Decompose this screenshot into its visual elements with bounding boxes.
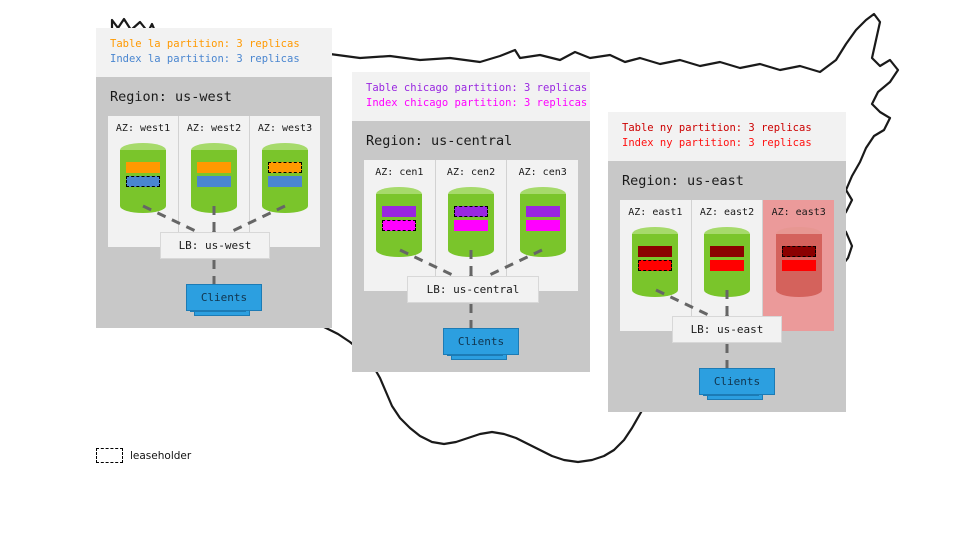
clients-box-us-west[interactable]: Clients: [186, 284, 262, 311]
replica-bars: [710, 246, 744, 274]
clients-box-us-central[interactable]: Clients: [443, 328, 519, 355]
region-panel-us-east: Table ny partition: 3 replicas Index ny …: [608, 112, 846, 412]
az-label: AZ: east1: [620, 207, 691, 218]
region-title-us-east: Region: us-east: [608, 161, 846, 200]
replica-bar-index: [197, 176, 231, 187]
replica-bar-table: [197, 162, 231, 173]
az-label: AZ: west3: [250, 123, 320, 134]
replica-bar-table: [382, 206, 416, 217]
az-label: AZ: west1: [108, 123, 178, 134]
node-cylinder-icon[interactable]: [120, 143, 166, 213]
node-cylinder-icon[interactable]: [776, 227, 822, 297]
region-title-us-west: Region: us-west: [96, 77, 332, 116]
replica-bar-table-leaseholder: [454, 206, 488, 217]
az-label: AZ: east3: [763, 207, 834, 218]
replica-bars: [197, 162, 231, 190]
az-row-us-east: AZ: east1 AZ: east2: [620, 200, 834, 331]
replica-bars: [782, 246, 816, 274]
node-cylinder-icon[interactable]: [632, 227, 678, 297]
replica-bar-table: [638, 246, 672, 257]
az-row-us-west: AZ: west1 AZ: west2: [108, 116, 320, 247]
clients-box-us-east[interactable]: Clients: [699, 368, 775, 395]
legend: leaseholder: [96, 448, 191, 463]
region-header-us-central: Table chicago partition: 3 replicas Inde…: [352, 72, 590, 121]
clients-label[interactable]: Clients: [186, 284, 262, 311]
az-label: AZ: east2: [692, 207, 763, 218]
clients-label[interactable]: Clients: [443, 328, 519, 355]
region-panel-us-west: Table la partition: 3 replicas Index la …: [96, 28, 332, 328]
replica-bar-index: [454, 220, 488, 231]
az-label: AZ: west2: [179, 123, 249, 134]
clients-label[interactable]: Clients: [699, 368, 775, 395]
az-cen2[interactable]: AZ: cen2: [435, 160, 507, 291]
replica-bar-index: [526, 220, 560, 231]
az-row-us-central: AZ: cen1 AZ: cen2: [364, 160, 578, 291]
legend-label: leaseholder: [130, 450, 191, 462]
replica-bar-table: [126, 162, 160, 173]
az-label: AZ: cen2: [436, 167, 507, 178]
region-header-us-west: Table la partition: 3 replicas Index la …: [96, 28, 332, 77]
dashed-rect-icon: [96, 448, 123, 463]
index-partition-label: Index ny partition: 3 replicas: [622, 136, 832, 151]
node-cylinder-icon[interactable]: [520, 187, 566, 257]
load-balancer-us-west[interactable]: LB: us-west: [160, 232, 270, 259]
replica-bar-index: [268, 176, 302, 187]
node-cylinder-icon[interactable]: [376, 187, 422, 257]
replica-bars: [382, 206, 416, 234]
table-partition-label: Table la partition: 3 replicas: [110, 37, 318, 52]
table-partition-label: Table ny partition: 3 replicas: [622, 121, 832, 136]
region-panel-us-central: Table chicago partition: 3 replicas Inde…: [352, 72, 590, 372]
index-partition-label: Index la partition: 3 replicas: [110, 52, 318, 67]
region-header-us-east: Table ny partition: 3 replicas Index ny …: [608, 112, 846, 161]
az-label: AZ: cen3: [507, 167, 578, 178]
node-cylinder-icon[interactable]: [704, 227, 750, 297]
replica-bar-index-leaseholder: [382, 220, 416, 231]
replica-bars: [454, 206, 488, 234]
replica-bar-index-leaseholder: [638, 260, 672, 271]
az-east1[interactable]: AZ: east1: [620, 200, 691, 331]
az-label: AZ: cen1: [364, 167, 435, 178]
replica-bars: [638, 246, 672, 274]
node-cylinder-icon[interactable]: [191, 143, 237, 213]
replica-bar-index: [782, 260, 816, 271]
replica-bars: [126, 162, 160, 190]
index-partition-label: Index chicago partition: 3 replicas: [366, 96, 576, 111]
az-cen1[interactable]: AZ: cen1: [364, 160, 435, 291]
replica-bars: [268, 162, 302, 190]
replica-bar-index-leaseholder: [126, 176, 160, 187]
az-west2[interactable]: AZ: west2: [178, 116, 249, 247]
replica-bar-index: [710, 260, 744, 271]
load-balancer-us-east[interactable]: LB: us-east: [672, 316, 782, 343]
az-east3[interactable]: AZ: east3: [762, 200, 834, 331]
region-title-us-central: Region: us-central: [352, 121, 590, 160]
az-east2[interactable]: AZ: east2: [691, 200, 763, 331]
load-balancer-us-central[interactable]: LB: us-central: [407, 276, 539, 303]
replica-bar-table-leaseholder: [268, 162, 302, 173]
az-west3[interactable]: AZ: west3: [249, 116, 320, 247]
az-west1[interactable]: AZ: west1: [108, 116, 178, 247]
replica-bar-table: [526, 206, 560, 217]
table-partition-label: Table chicago partition: 3 replicas: [366, 81, 576, 96]
node-cylinder-icon[interactable]: [448, 187, 494, 257]
replica-bar-table: [710, 246, 744, 257]
node-cylinder-icon[interactable]: [262, 143, 308, 213]
az-cen3[interactable]: AZ: cen3: [506, 160, 578, 291]
replica-bar-table-leaseholder: [782, 246, 816, 257]
replica-bars: [526, 206, 560, 234]
